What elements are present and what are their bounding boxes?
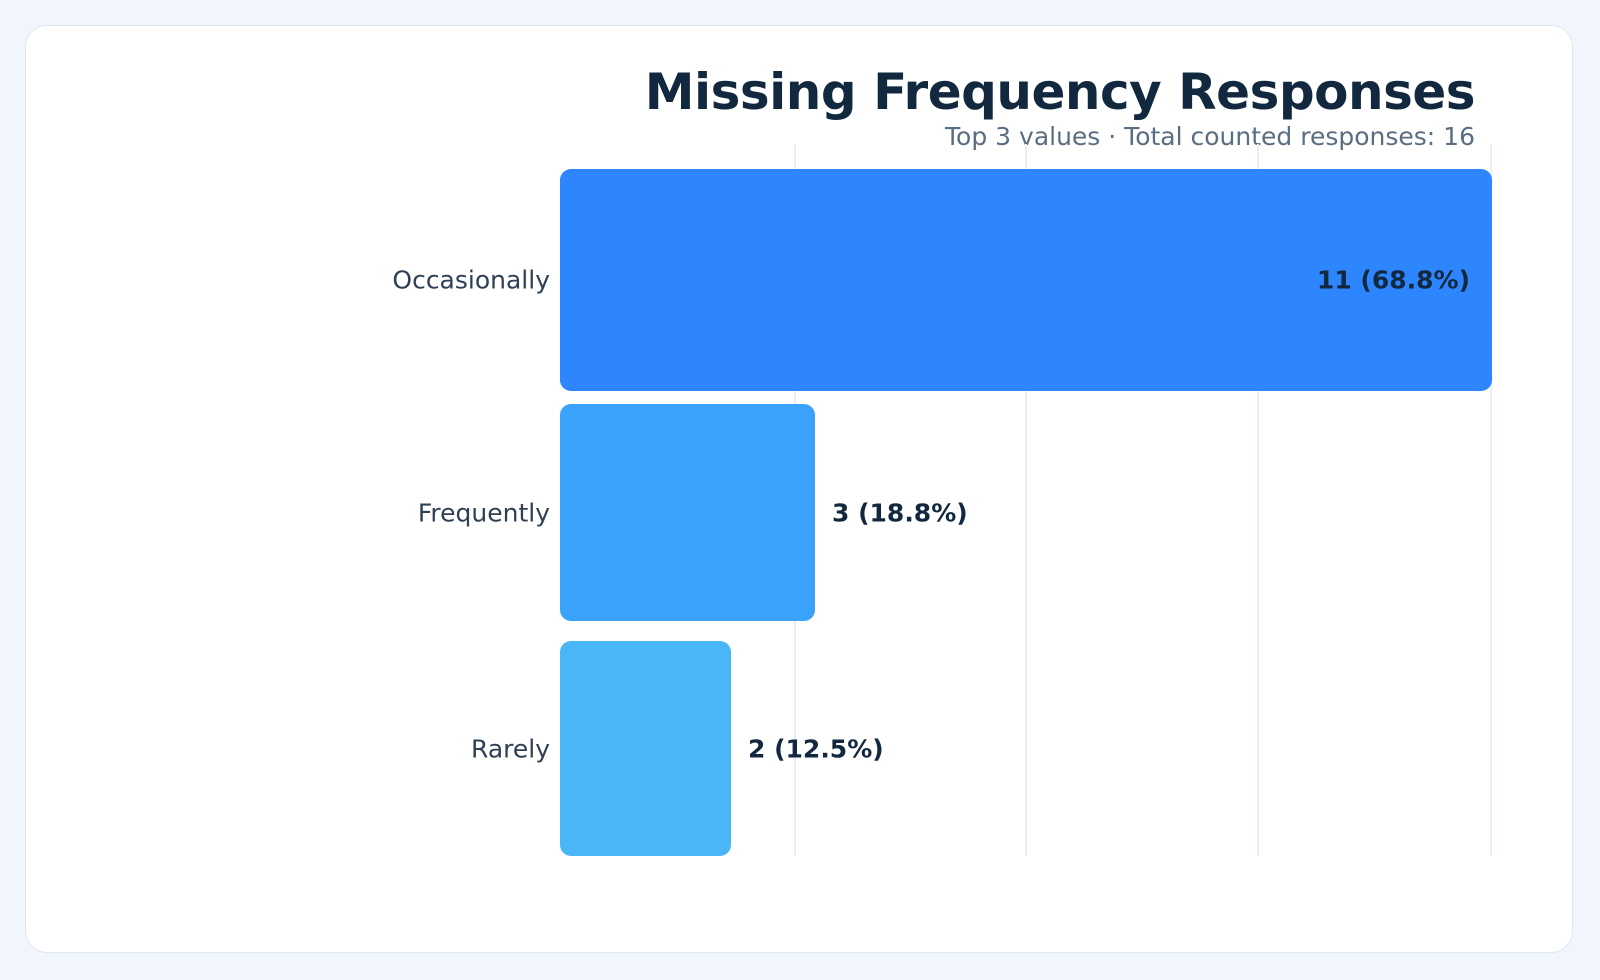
chart-card: Missing Frequency Responses Top 3 values…: [25, 25, 1573, 953]
category-label: Frequently: [418, 498, 550, 527]
bar-row[interactable]: Rarely 2 (12.5%): [26, 641, 1574, 856]
category-label: Occasionally: [392, 266, 550, 295]
plot-area: Occasionally 11 (68.8%) Frequently 3 (18…: [26, 26, 1574, 954]
bar-value-label: 3 (18.8%): [832, 498, 968, 527]
bar-frequently[interactable]: [560, 404, 815, 621]
bar-rarely[interactable]: [560, 641, 731, 856]
bar-row[interactable]: Occasionally 11 (68.8%): [26, 169, 1574, 391]
category-label: Rarely: [471, 734, 550, 763]
bar-value-label: 2 (12.5%): [748, 734, 884, 763]
bar-value-label: 11 (68.8%): [560, 266, 1470, 295]
bar-row[interactable]: Frequently 3 (18.8%): [26, 404, 1574, 621]
